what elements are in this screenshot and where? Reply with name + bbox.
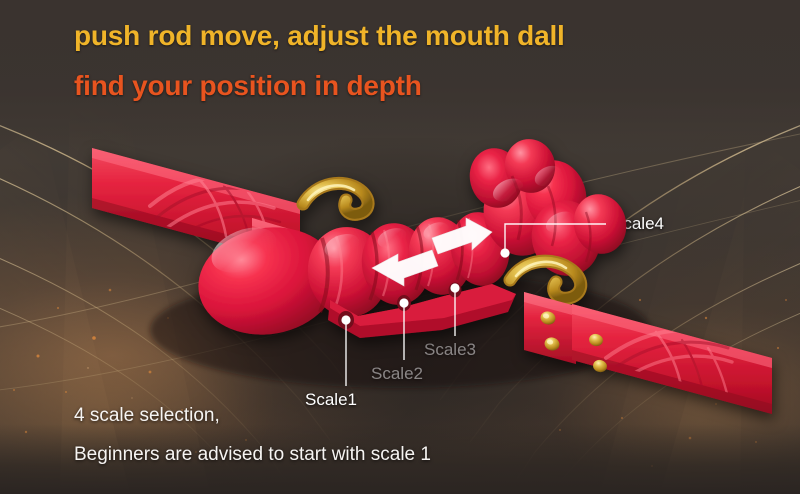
leader-line-scale4 — [505, 224, 606, 253]
callout-dot-scale3 — [450, 283, 459, 292]
callout-leader-lines — [0, 0, 800, 494]
callout-dot-scale4 — [500, 248, 509, 257]
callout-dot-scale1 — [341, 315, 350, 324]
callout-dot-scale2 — [399, 298, 408, 307]
banner-canvas: Scale1 Scale2 Scale3 Scale4 push rod mov… — [0, 0, 800, 494]
